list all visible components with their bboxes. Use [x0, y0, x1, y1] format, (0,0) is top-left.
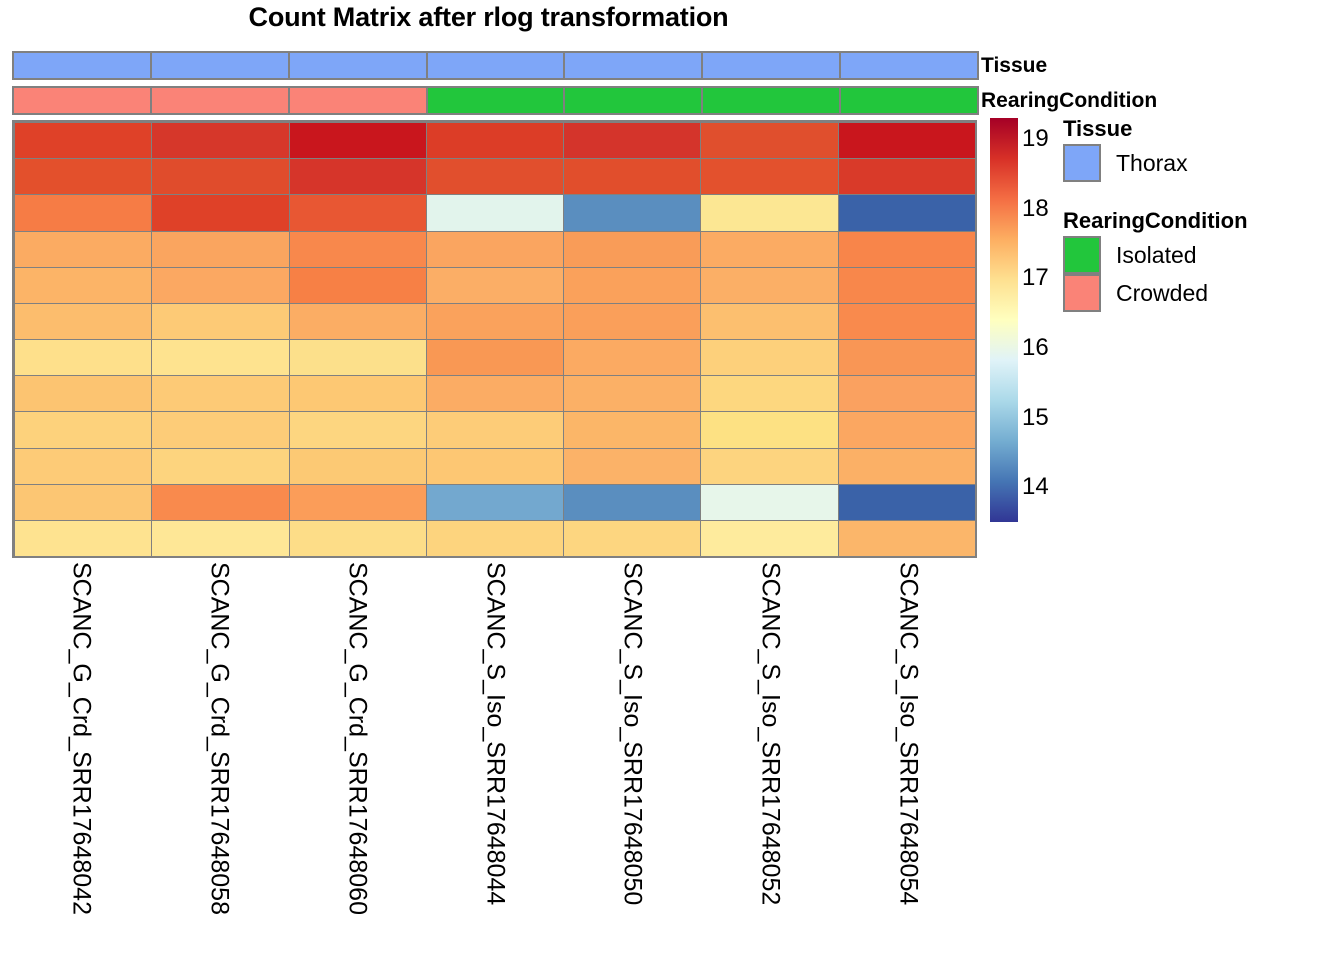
heatmap-cell	[14, 267, 152, 304]
heatmap-cell	[426, 158, 564, 195]
heatmap-cell	[14, 411, 152, 448]
legend-tissue-title: Tissue	[1063, 116, 1343, 142]
heatmap-row	[14, 448, 975, 485]
heatmap-cell	[289, 375, 427, 412]
rearing-annotation-cell	[701, 86, 841, 115]
tissue-annotation-bar	[12, 51, 977, 80]
colorbar-ticks: 191817161514	[1022, 118, 1062, 522]
heatmap-cell	[700, 303, 838, 340]
heatmap-cell	[838, 375, 976, 412]
legend-rearing-title: RearingCondition	[1063, 208, 1343, 234]
heatmap-cell	[700, 267, 838, 304]
tissue-annotation-cell	[12, 51, 152, 80]
colorbar-tick-label: 14	[1022, 475, 1049, 499]
heatmap-cell	[838, 484, 976, 521]
heatmap-cell	[289, 267, 427, 304]
rearing-annotation-cell	[12, 86, 152, 115]
heatmap-cell	[563, 303, 701, 340]
heatmap-cell	[838, 339, 976, 376]
heatmap-cell	[289, 231, 427, 268]
column-label: SCANC_G_Crd_SRR17648042	[66, 562, 95, 915]
colorbar-tick-label: 19	[1022, 127, 1049, 151]
heatmap-cell	[14, 339, 152, 376]
heatmap-cell	[14, 375, 152, 412]
heatmap-row	[14, 375, 975, 412]
heatmap-row	[14, 231, 975, 268]
heatmap-cell	[151, 375, 289, 412]
heatmap-cell	[426, 231, 564, 268]
heatmap-cell	[289, 122, 427, 159]
heatmap-cell	[838, 267, 976, 304]
column-label: SCANC_G_Crd_SRR17648058	[204, 562, 233, 915]
colorbar-tick-label: 16	[1022, 336, 1049, 360]
column-label: SCANC_S_Iso_SRR17648054	[894, 562, 923, 905]
column-label: SCANC_S_Iso_SRR17648044	[480, 562, 509, 905]
heatmap-cell	[700, 231, 838, 268]
heatmap-cell	[563, 231, 701, 268]
heatmap-cell	[151, 194, 289, 231]
legend-spacer	[1063, 182, 1343, 208]
heatmap-cell	[700, 158, 838, 195]
heatmap-cell	[563, 448, 701, 485]
heatmap-cell	[563, 375, 701, 412]
heatmap-cell	[14, 484, 152, 521]
heatmap-cell	[14, 231, 152, 268]
heatmap-cell	[14, 448, 152, 485]
heatmap-cell	[289, 158, 427, 195]
heatmap-cell	[838, 411, 976, 448]
heatmap-cell	[563, 267, 701, 304]
heatmap-cell	[14, 158, 152, 195]
heatmap-cell	[151, 158, 289, 195]
legend-tissue-items: Thorax	[1063, 144, 1343, 182]
tissue-annotation-cell	[839, 51, 979, 80]
rearing-condition-annotation-bar	[12, 86, 977, 115]
heatmap-row	[14, 122, 975, 159]
heatmap-cell	[838, 303, 976, 340]
legend-rearing-item-swatch	[1063, 274, 1101, 312]
heatmap-cell	[426, 484, 564, 521]
heatmap-cell	[563, 339, 701, 376]
heatmap-row	[14, 158, 975, 195]
legend-rearing-items: IsolatedCrowded	[1063, 236, 1343, 312]
heatmap-cell	[289, 520, 427, 557]
heatmap-matrix	[12, 120, 977, 558]
heatmap-cell	[289, 448, 427, 485]
heatmap-cell	[700, 375, 838, 412]
column-labels: SCANC_G_Crd_SRR17648042SCANC_G_Crd_SRR17…	[12, 560, 977, 958]
heatmap-cell	[838, 122, 976, 159]
heatmap-cell	[563, 122, 701, 159]
tissue-annotation-cell	[150, 51, 290, 80]
heatmap-cell	[151, 448, 289, 485]
tissue-annotation-label: Tissue	[981, 51, 1047, 80]
rearing-annotation-cell	[839, 86, 979, 115]
column-label-slot: SCANC_S_Iso_SRR17648054	[839, 560, 977, 958]
heatmap-cell	[700, 122, 838, 159]
heatmap-cell	[838, 231, 976, 268]
column-label-slot: SCANC_S_Iso_SRR17648050	[563, 560, 701, 958]
heatmap-cell	[563, 484, 701, 521]
heatmap-cell	[151, 122, 289, 159]
heatmap-cell	[289, 194, 427, 231]
legend-tissue-item-swatch	[1063, 144, 1101, 182]
legend-rearing-item-row[interactable]: Crowded	[1063, 274, 1343, 312]
heatmap-cell	[426, 375, 564, 412]
heatmap-row	[14, 339, 975, 376]
legend-rearing-item-row[interactable]: Isolated	[1063, 236, 1343, 274]
heatmap-cell	[700, 484, 838, 521]
heatmap-cell	[151, 231, 289, 268]
rearing-annotation-cell	[563, 86, 703, 115]
legend-rearing-item-label: Isolated	[1116, 242, 1197, 269]
rearing-annotation-cell	[150, 86, 290, 115]
heatmap-row	[14, 267, 975, 304]
column-label: SCANC_G_Crd_SRR17648060	[342, 562, 371, 915]
heatmap-cell	[289, 411, 427, 448]
heatmap-cell	[700, 339, 838, 376]
heatmap-row	[14, 484, 975, 521]
heatmap-cell	[838, 194, 976, 231]
heatmap-cell	[289, 339, 427, 376]
heatmap-cell	[151, 520, 289, 557]
heatmap-cell	[700, 411, 838, 448]
legend-panel: Tissue Thorax RearingCondition IsolatedC…	[1063, 116, 1343, 312]
colorbar-tick-label: 18	[1022, 197, 1049, 221]
heatmap-cell	[151, 484, 289, 521]
heatmap-cell	[700, 194, 838, 231]
tissue-annotation-cell	[563, 51, 703, 80]
heatmap-cell	[838, 448, 976, 485]
column-label: SCANC_S_Iso_SRR17648052	[756, 562, 785, 905]
colorbar-gradient	[990, 118, 1018, 522]
heatmap-cell	[563, 411, 701, 448]
heatmap-cell	[426, 303, 564, 340]
column-label-slot: SCANC_G_Crd_SRR17648042	[12, 560, 150, 958]
rearing-condition-annotation-label: RearingCondition	[981, 86, 1157, 115]
heatmap-cell	[563, 194, 701, 231]
colorbar-tick-label: 15	[1022, 406, 1049, 430]
colorbar-tick-label: 17	[1022, 266, 1049, 290]
heatmap-cell	[838, 158, 976, 195]
tissue-annotation-cell	[288, 51, 428, 80]
legend-rearing-item-swatch	[1063, 236, 1101, 274]
heatmap-cell	[700, 448, 838, 485]
heatmap-cell	[426, 448, 564, 485]
heatmap-cell	[151, 339, 289, 376]
heatmap-cell	[426, 194, 564, 231]
column-label-slot: SCANC_S_Iso_SRR17648052	[701, 560, 839, 958]
heatmap-cell	[289, 303, 427, 340]
column-label: SCANC_S_Iso_SRR17648050	[618, 562, 647, 905]
heatmap-cell	[14, 194, 152, 231]
heatmap-cell	[700, 520, 838, 557]
heatmap-cell	[838, 520, 976, 557]
heatmap-cell	[151, 303, 289, 340]
heatmap-cell	[14, 303, 152, 340]
column-label-slot: SCANC_S_Iso_SRR17648044	[426, 560, 564, 958]
heatmap-row	[14, 520, 975, 557]
legend-rearing-item-label: Crowded	[1116, 280, 1208, 307]
heatmap-row	[14, 194, 975, 231]
heatmap-cell	[426, 267, 564, 304]
tissue-annotation-cell	[701, 51, 841, 80]
heatmap-row	[14, 411, 975, 448]
heatmap-cell	[151, 411, 289, 448]
heatmap-cell	[426, 339, 564, 376]
column-label-slot: SCANC_G_Crd_SRR17648060	[288, 560, 426, 958]
legend-tissue-item-row[interactable]: Thorax	[1063, 144, 1343, 182]
rearing-annotation-cell	[288, 86, 428, 115]
heatmap-cell	[426, 411, 564, 448]
rearing-annotation-cell	[426, 86, 566, 115]
heatmap-cell	[563, 520, 701, 557]
legend-tissue-item-label: Thorax	[1116, 150, 1188, 177]
heatmap-cell	[289, 484, 427, 521]
heatmap-cell	[426, 122, 564, 159]
page-title: Count Matrix after rlog transformation	[0, 2, 977, 33]
heatmap-cell	[151, 267, 289, 304]
heatmap-cell	[426, 520, 564, 557]
heatmap-cell	[14, 122, 152, 159]
heatmap-row	[14, 303, 975, 340]
heatmap-cell	[14, 520, 152, 557]
tissue-annotation-cell	[426, 51, 566, 80]
column-label-slot: SCANC_G_Crd_SRR17648058	[150, 560, 288, 958]
heatmap-cell	[563, 158, 701, 195]
